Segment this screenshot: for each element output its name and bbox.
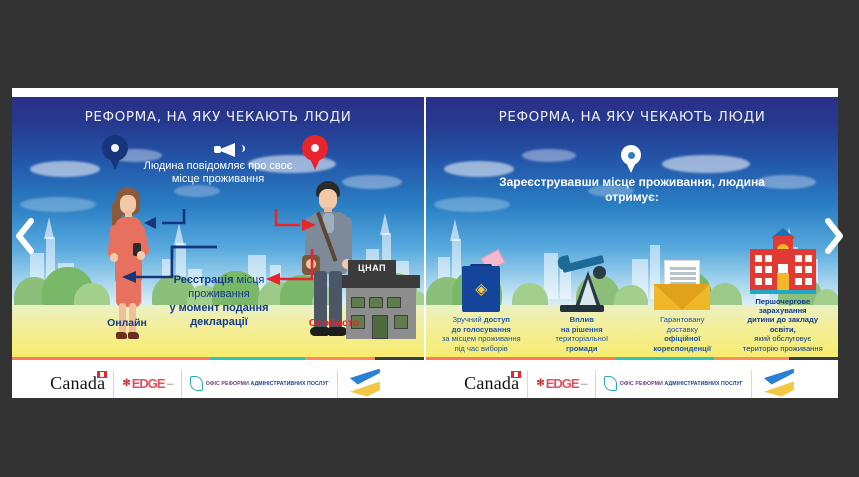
poster-artwork-1: РЕФОРМА, НА ЯКУ ЧЕКАЮТЬ ЛЮДИ Людина пові… <box>12 97 424 357</box>
edge-star-icon: ✻ <box>536 378 543 389</box>
b4-l2b: дитини до закладу освіти, <box>747 315 818 333</box>
b3-l2p: доставку <box>667 325 698 334</box>
carousel-slide-1[interactable]: РЕФОРМА, НА ЯКУ ЧЕКАЮТЬ ЛЮДИ Людина пові… <box>12 97 424 398</box>
b2-l3p: територіальної <box>555 334 608 343</box>
canada-flag-icon <box>511 371 521 378</box>
canada-logo: Canada <box>42 370 113 398</box>
map-pin-icon-white <box>621 145 641 173</box>
oil-pump-icon <box>533 236 632 312</box>
b4-l4p: територію проживання <box>743 344 823 353</box>
ua-blue-shape <box>764 369 794 385</box>
b1-l1p: Зручний <box>452 315 483 324</box>
benefits-row: ◈ Зручний доступ до голосування за місце… <box>432 218 832 353</box>
image-carousel[interactable]: РЕФОРМА, НА ЯКУ ЧЕКАЮТЬ ЛЮДИ Людина пові… <box>12 88 838 398</box>
poster-lead-text: Зареєструвавши місце проживання, людина … <box>482 175 782 205</box>
poster-title: РЕФОРМА, НА ЯКУ ЧЕКАЮТЬ ЛЮДИ <box>426 109 838 125</box>
edge-logo: ✻EDGE– <box>527 370 594 398</box>
label-inperson: Особисто <box>292 317 376 329</box>
edge-dash-icon: – <box>581 376 587 391</box>
cnap-sign-label: ЦНАП <box>348 260 396 276</box>
office-reform-mark-icon <box>190 376 203 391</box>
b3-l3b: офіційної <box>664 334 700 343</box>
chevron-left-icon <box>14 217 36 255</box>
canada-logo: Canada <box>456 370 527 398</box>
slide-strip: РЕФОРМА, НА ЯКУ ЧЕКАЮТЬ ЛЮДИ Людина пові… <box>12 88 838 398</box>
cloud-icon <box>522 149 576 162</box>
map-pin-icon-navy <box>102 135 128 171</box>
ukraine-flag-logo <box>337 370 394 398</box>
office-reform-text-a: ОФІС РЕФОРМИ <box>620 381 663 387</box>
edge-logo-text: EDGE <box>132 376 165 391</box>
b1-l3p: за місцем проживання <box>442 334 521 343</box>
trident-emblem-icon: ◈ <box>475 282 487 298</box>
benefit-item-2: Вплив на рішення територіальної громади <box>533 236 632 353</box>
office-reform-mark-icon <box>604 376 617 391</box>
b3-l4b: кореспонденції <box>653 344 711 353</box>
benefit-item-3: Гарантовану доставку офіційної кореспонд… <box>633 236 732 353</box>
b1-l4p: під час виборів <box>455 344 508 353</box>
megaphone-icon <box>214 141 242 159</box>
b1-l2b: до голосування <box>452 325 511 334</box>
office-reform-text-a: ОФІС РЕФОРМИ <box>206 381 249 387</box>
benefit-caption-4: Першочергове зарахування дитини до закла… <box>734 294 833 353</box>
footer-divider <box>12 357 424 360</box>
benefit-caption-3: Гарантовану доставку офіційної кореспонд… <box>633 312 732 353</box>
map-pin-icon-red <box>302 135 328 171</box>
benefit-item-1: ◈ Зручний доступ до голосування за місце… <box>432 236 531 353</box>
sponsor-logo-bar-1: Canada ✻EDGE– ОФІС РЕФОРМИ АДМІНІСТРАТИВ… <box>12 360 424 398</box>
benefit-caption-2: Вплив на рішення територіальної громади <box>533 312 632 353</box>
caption-bold-1: Реєстрація <box>174 274 234 286</box>
edge-star-icon: ✻ <box>122 378 129 389</box>
envelope-icon <box>633 236 732 312</box>
ua-yellow-shape <box>764 381 794 397</box>
poster-title: РЕФОРМА, НА ЯКУ ЧЕКАЮТЬ ЛЮДИ <box>12 109 424 125</box>
b2-l4b: громади <box>566 344 598 353</box>
b4-l1b: Першочергове зарахування <box>755 297 810 315</box>
ua-yellow-shape <box>350 381 380 397</box>
carousel-prev-button[interactable] <box>8 206 42 266</box>
poster-lead-text: Людина повідомляє про своє місце прожива… <box>130 160 306 186</box>
poster-artwork-2: РЕФОРМА, НА ЯКУ ЧЕКАЮТЬ ЛЮДИ Зареєструва… <box>426 97 838 357</box>
b2-l1b: Вплив <box>570 315 594 324</box>
edge-logo-text: EDGE <box>546 376 579 391</box>
office-reform-text-b: АДМІНІСТРАТИВНИХ ПОСЛУГ <box>664 381 742 387</box>
carousel-slide-2[interactable]: РЕФОРМА, НА ЯКУ ЧЕКАЮТЬ ЛЮДИ Зареєструва… <box>426 97 838 398</box>
ballot-box-icon: ◈ <box>432 236 531 312</box>
ukraine-flag-logo <box>751 370 808 398</box>
office-reform-text-b: АДМІНІСТРАТИВНИХ ПОСЛУГ <box>250 381 328 387</box>
ua-blue-shape <box>350 369 380 385</box>
office-reform-logo: ОФІС РЕФОРМИ АДМІНІСТРАТИВНИХ ПОСЛУГ <box>181 370 337 398</box>
canada-flag-icon <box>97 371 107 378</box>
caption-plain-1: місця <box>234 274 265 286</box>
cloud-icon <box>30 161 100 177</box>
caption-bold-3: декларації <box>190 316 248 328</box>
cloud-icon <box>174 185 220 197</box>
b1-l1b: доступ <box>484 315 510 324</box>
caption-plain-2: проживання <box>188 288 250 300</box>
edge-dash-icon: – <box>167 376 173 391</box>
office-reform-logo: ОФІС РЕФОРМИ АДМІНІСТРАТИВНИХ ПОСЛУГ <box>595 370 751 398</box>
footer-divider <box>426 357 838 360</box>
caption-bold-2: у момент подання <box>169 302 268 314</box>
sponsor-logo-bar-2: Canada ✻EDGE– ОФІС РЕФОРМИ АДМІНІСТРАТИВ… <box>426 360 838 398</box>
b4-l3p: який обслуговує <box>754 334 811 343</box>
b2-l2b: на рішення <box>561 325 603 334</box>
cloud-icon <box>662 155 750 173</box>
b3-l1p: Гарантовану <box>660 315 704 324</box>
chevron-right-icon <box>823 217 845 255</box>
page-root: РЕФОРМА, НА ЯКУ ЧЕКАЮТЬ ЛЮДИ Людина пові… <box>0 0 859 477</box>
label-online: Онлайн <box>90 317 164 329</box>
carousel-next-button[interactable] <box>817 206 851 266</box>
edge-logo: ✻EDGE– <box>113 370 180 398</box>
benefit-caption-1: Зручний доступ до голосування за місцем … <box>432 312 531 353</box>
